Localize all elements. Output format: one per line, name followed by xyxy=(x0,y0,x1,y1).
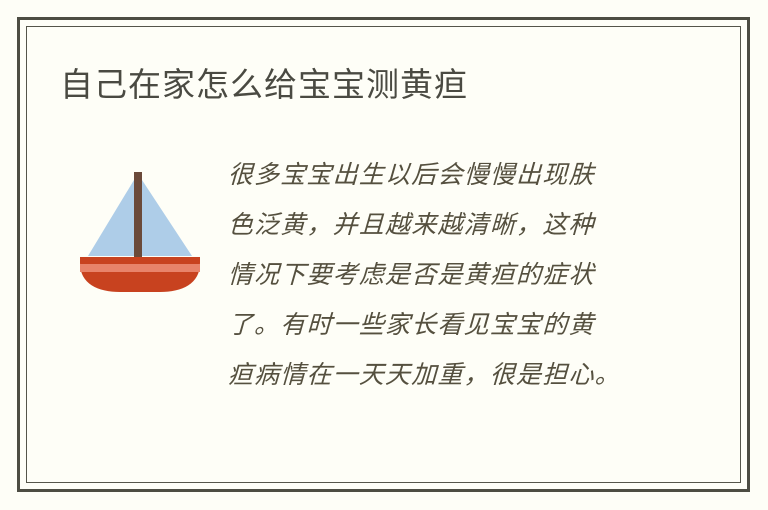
sailboat-hull-stripe xyxy=(80,264,200,272)
body-line: 了。有时一些家长看见宝宝的黄 xyxy=(227,300,659,350)
article-card: 自己在家怎么给宝宝测黄疸 很多宝宝出生以后会慢慢出现肤 色泛黄，并且越来越清晰，… xyxy=(0,0,768,510)
body-line: 情况下要考虑是否是黄疸的症状 xyxy=(227,250,659,300)
sailboat-fore-sail xyxy=(88,180,134,256)
sailboat-mast xyxy=(134,172,142,264)
body-line: 很多宝宝出生以后会慢慢出现肤 xyxy=(227,150,659,200)
body-line: 疸病情在一天天加重，很是担心。 xyxy=(227,350,659,400)
body-line: 色泛黄，并且越来越清晰，这种 xyxy=(227,200,659,250)
article-body: 很多宝宝出生以后会慢慢出现肤 色泛黄，并且越来越清晰，这种 情况下要考虑是否是黄… xyxy=(228,150,658,400)
sailboat-hull xyxy=(80,257,200,292)
sailboat-icon xyxy=(70,158,210,298)
page-title: 自己在家怎么给宝宝测黄疸 xyxy=(60,62,680,108)
article-content-row: 很多宝宝出生以后会慢慢出现肤 色泛黄，并且越来越清晰，这种 情况下要考虑是否是黄… xyxy=(60,150,680,410)
sailboat-graphic xyxy=(70,158,210,298)
sailboat-main-sail xyxy=(142,180,192,256)
